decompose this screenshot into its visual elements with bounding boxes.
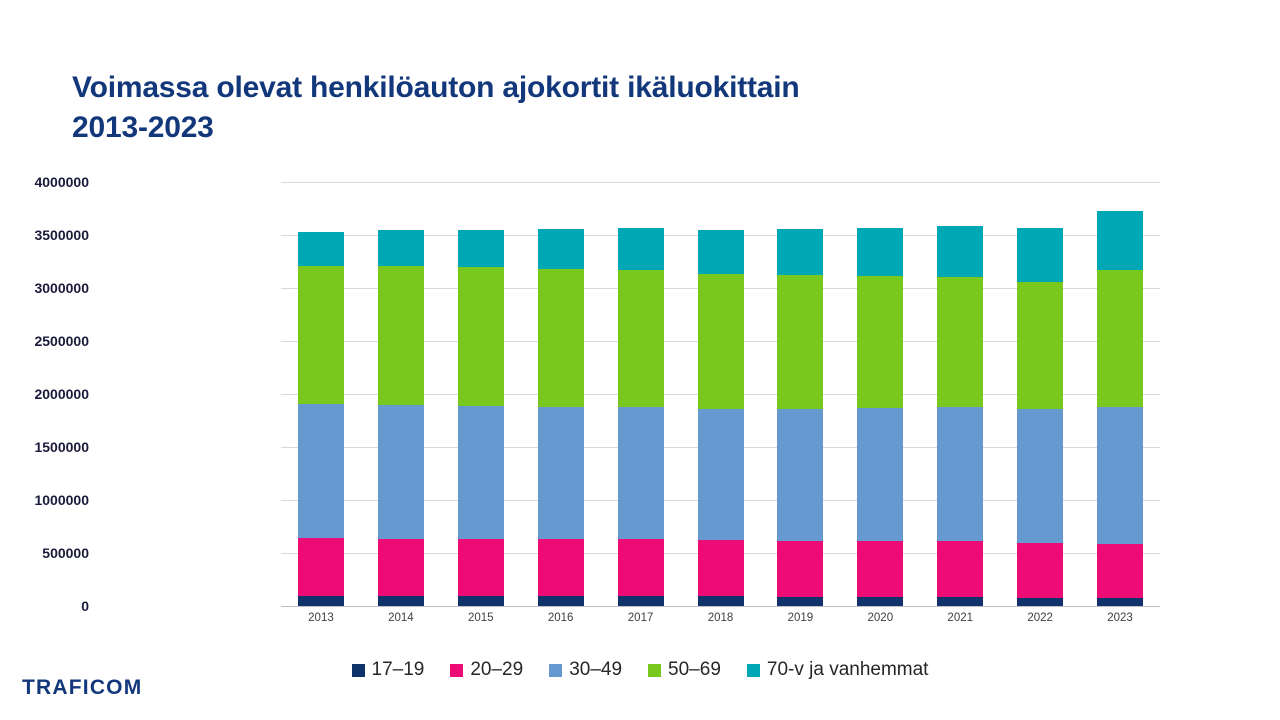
stacked-bar-chart: 0500000100000015000002000000250000030000…	[0, 0, 1280, 720]
bar-stack[interactable]	[1097, 182, 1143, 606]
x-axis-tick-label: 2014	[361, 612, 441, 624]
y-axis-tick-label: 2500000	[0, 333, 89, 349]
bar-segment[interactable]	[857, 408, 903, 541]
bar-segment[interactable]	[1097, 544, 1143, 598]
y-axis-tick-label: 2000000	[0, 386, 89, 402]
bar-stack[interactable]	[378, 182, 424, 606]
legend-item-label: 50–69	[668, 659, 721, 681]
bar-segment[interactable]	[937, 541, 983, 597]
bar-segment[interactable]	[1017, 228, 1063, 282]
bar-segment[interactable]	[1017, 282, 1063, 409]
bar-segment[interactable]	[538, 269, 584, 407]
bar-segment[interactable]	[298, 266, 344, 404]
bar-stack[interactable]	[618, 182, 664, 606]
x-axis-tick-label: 2017	[601, 612, 681, 624]
x-axis-tick-label: 2015	[441, 612, 521, 624]
y-axis-tick-label: 500000	[0, 545, 89, 561]
x-axis-tick-label: 2018	[681, 612, 761, 624]
bar-segment[interactable]	[298, 596, 344, 606]
bar-segment[interactable]	[538, 229, 584, 269]
legend-item-label: 17–19	[372, 659, 425, 681]
bar-stack[interactable]	[857, 182, 903, 606]
bar-segment[interactable]	[378, 230, 424, 266]
bar-segment[interactable]	[937, 277, 983, 407]
bar-segment[interactable]	[538, 596, 584, 606]
bar-stack[interactable]	[538, 182, 584, 606]
bar-segment[interactable]	[458, 267, 504, 406]
bar-segment[interactable]	[458, 596, 504, 606]
x-axis-tick-label: 2023	[1080, 612, 1160, 624]
legend-item[interactable]: 17–19	[352, 659, 425, 681]
bar-segment[interactable]	[937, 407, 983, 541]
legend-item[interactable]: 50–69	[648, 659, 721, 681]
bar-segment[interactable]	[618, 407, 664, 539]
bar-segment[interactable]	[378, 405, 424, 539]
bar-segment[interactable]	[618, 270, 664, 407]
bar-segment[interactable]	[458, 230, 504, 267]
bar-segment[interactable]	[1017, 598, 1063, 606]
legend-swatch-icon	[352, 664, 365, 677]
plot-area	[281, 182, 1160, 606]
y-axis-tick-label: 3500000	[0, 227, 89, 243]
bar-segment[interactable]	[538, 407, 584, 539]
bar-segment[interactable]	[698, 540, 744, 596]
bar-segment[interactable]	[298, 538, 344, 596]
bar-segment[interactable]	[698, 409, 744, 540]
legend-item[interactable]: 30–49	[549, 659, 622, 681]
chart-legend: 17–1920–2930–4950–6970-v ja vanhemmat	[0, 659, 1280, 681]
bar-segment[interactable]	[1097, 211, 1143, 270]
bar-segment[interactable]	[618, 539, 664, 596]
legend-item[interactable]: 20–29	[450, 659, 523, 681]
bar-stack[interactable]	[937, 182, 983, 606]
bar-segment[interactable]	[777, 409, 823, 541]
bar-segment[interactable]	[1097, 407, 1143, 544]
bar-segment[interactable]	[1017, 409, 1063, 543]
bar-segment[interactable]	[698, 230, 744, 274]
legend-item-label: 20–29	[470, 659, 523, 681]
y-axis-tick-label: 4000000	[0, 174, 89, 190]
bar-segment[interactable]	[777, 597, 823, 606]
bar-segment[interactable]	[1097, 270, 1143, 407]
y-axis-tick-label: 1500000	[0, 439, 89, 455]
bar-segment[interactable]	[618, 596, 664, 606]
bar-segment[interactable]	[298, 404, 344, 538]
bar-segment[interactable]	[777, 541, 823, 597]
bar-segment[interactable]	[937, 226, 983, 277]
traficom-logo: TRAFICOM	[22, 676, 142, 700]
legend-swatch-icon	[648, 664, 661, 677]
x-axis-tick-label: 2019	[760, 612, 840, 624]
bar-segment[interactable]	[378, 596, 424, 606]
bar-segment[interactable]	[857, 597, 903, 606]
bar-segment[interactable]	[857, 276, 903, 408]
legend-item-label: 30–49	[569, 659, 622, 681]
bar-segment[interactable]	[458, 406, 504, 539]
bar-stack[interactable]	[698, 182, 744, 606]
bar-segment[interactable]	[937, 597, 983, 606]
bar-segment[interactable]	[378, 539, 424, 596]
bar-segment[interactable]	[698, 274, 744, 409]
bar-segment[interactable]	[1017, 543, 1063, 598]
legend-swatch-icon	[549, 664, 562, 677]
bar-segment[interactable]	[857, 228, 903, 276]
bar-stack[interactable]	[458, 182, 504, 606]
bar-segment[interactable]	[777, 275, 823, 409]
bar-segment[interactable]	[378, 266, 424, 405]
bar-segment[interactable]	[1097, 598, 1143, 606]
legend-item[interactable]: 70-v ja vanhemmat	[747, 659, 929, 681]
y-axis-tick-label: 3000000	[0, 280, 89, 296]
bar-stack[interactable]	[1017, 182, 1063, 606]
bar-stack[interactable]	[777, 182, 823, 606]
x-axis-tick-label: 2021	[920, 612, 1000, 624]
legend-item-label: 70-v ja vanhemmat	[767, 659, 929, 681]
y-axis-tick-label: 1000000	[0, 492, 89, 508]
bar-segment[interactable]	[698, 596, 744, 606]
bar-segment[interactable]	[458, 539, 504, 596]
bar-segment[interactable]	[777, 229, 823, 275]
bar-stack[interactable]	[298, 182, 344, 606]
bar-segment[interactable]	[298, 232, 344, 266]
gridline	[281, 606, 1160, 607]
x-axis-tick-label: 2022	[1000, 612, 1080, 624]
bar-segment[interactable]	[618, 228, 664, 270]
y-axis-tick-label: 0	[0, 598, 89, 614]
legend-swatch-icon	[747, 664, 760, 677]
legend-swatch-icon	[450, 664, 463, 677]
slide-canvas: Voimassa olevat henkilöauton ajokortit i…	[0, 0, 1280, 720]
bar-segment[interactable]	[538, 539, 584, 596]
x-axis-tick-label: 2016	[521, 612, 601, 624]
x-axis-tick-label: 2020	[840, 612, 920, 624]
bar-segment[interactable]	[857, 541, 903, 597]
x-axis-tick-label: 2013	[281, 612, 361, 624]
